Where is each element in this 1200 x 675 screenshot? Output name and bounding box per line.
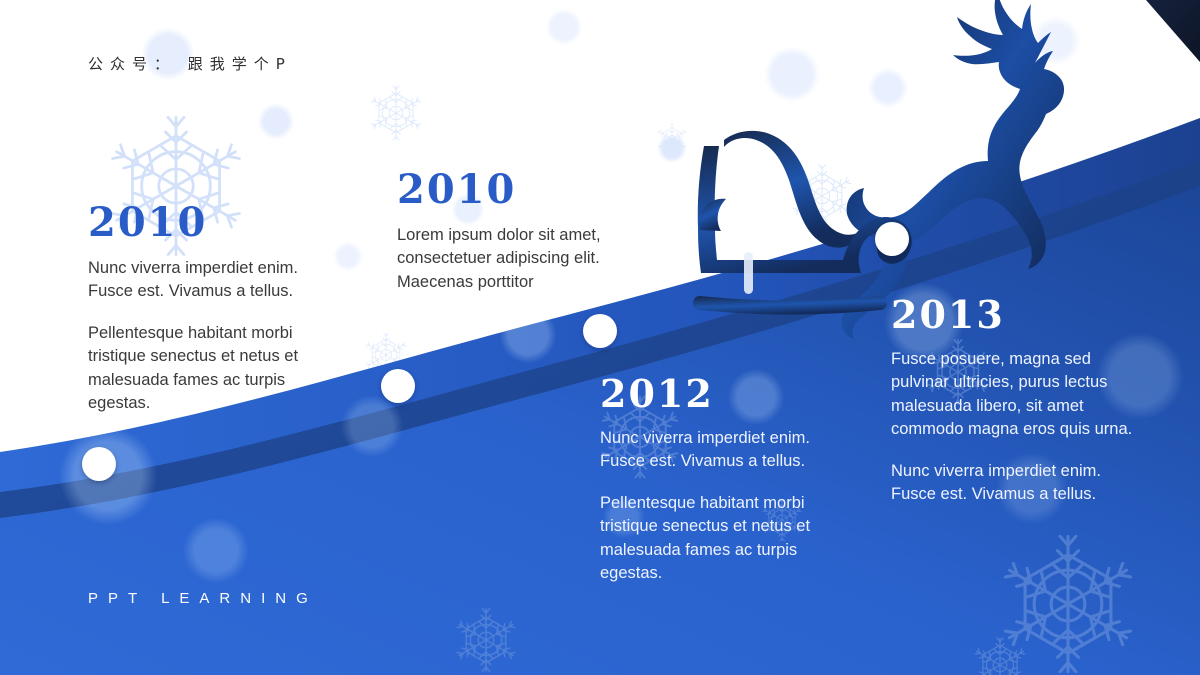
footer-text: PPT LEARNING bbox=[88, 590, 318, 607]
timeline-paragraph: Pellentesque habitant morbi tristique se… bbox=[88, 322, 328, 416]
timeline-entry-2: 2010 Lorem ipsum dolor sit amet, consect… bbox=[397, 170, 627, 294]
slide-canvas: 公众号： 跟我学个P 2010 Nunc viverra imperdiet e… bbox=[0, 0, 1200, 675]
content-layer: 公众号： 跟我学个P 2010 Nunc viverra imperdiet e… bbox=[0, 0, 1200, 675]
timeline-paragraph: Nunc viverra imperdiet enim. Fusce est. … bbox=[600, 427, 836, 474]
timeline-paragraph: Lorem ipsum dolor sit amet, consectetuer… bbox=[397, 224, 627, 294]
timeline-paragraph: Nunc viverra imperdiet enim. Fusce est. … bbox=[891, 460, 1147, 507]
kicker-text: 公众号： 跟我学个P bbox=[88, 53, 292, 74]
timeline-entry-3: 2012 Nunc viverra imperdiet enim. Fusce … bbox=[600, 375, 836, 586]
timeline-year-4: 2013 bbox=[891, 296, 1147, 334]
timeline-year-2: 2010 bbox=[397, 170, 627, 210]
timeline-year-3: 2012 bbox=[600, 375, 836, 413]
timeline-entry-4: 2013 Fusce posuere, magna sed pulvinar u… bbox=[891, 296, 1147, 507]
timeline-paragraph: Fusce posuere, magna sed pulvinar ultric… bbox=[891, 348, 1147, 442]
timeline-paragraph: Nunc viverra imperdiet enim. Fusce est. … bbox=[88, 257, 328, 304]
timeline-entry-1: 2010 Nunc viverra imperdiet enim. Fusce … bbox=[88, 203, 328, 416]
timeline-year-1: 2010 bbox=[88, 203, 328, 243]
timeline-paragraph: Pellentesque habitant morbi tristique se… bbox=[600, 492, 836, 586]
